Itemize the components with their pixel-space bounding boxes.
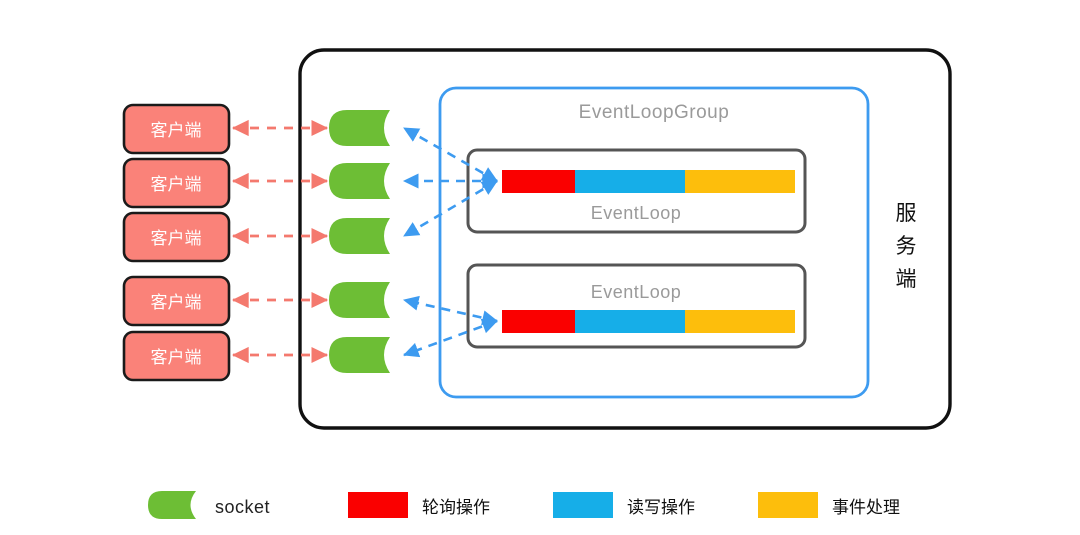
client-4-label: 客户端 — [151, 293, 202, 313]
legend-poll-swatch — [348, 492, 408, 518]
socket-list — [329, 110, 390, 373]
eventloopgroup-box — [440, 88, 868, 397]
server-label: 服 务 端 — [896, 201, 917, 291]
socket-2[interactable] — [329, 163, 390, 199]
client-3-label: 客户端 — [151, 229, 202, 249]
legend-socket-label: socket — [215, 497, 270, 517]
netty-reactor-diagram: 服 务 端 EventLoopGroup EventLoop EventLoop — [0, 0, 1080, 535]
legend-item-poll[interactable]: 轮询操作 — [348, 492, 490, 518]
eventloop-2-segment-eventhandle — [685, 310, 795, 333]
socket-4[interactable] — [329, 282, 390, 318]
eventloop-2-label: EventLoop — [591, 282, 682, 302]
eventloop-1-bar — [502, 170, 795, 193]
eventloop-2-box — [468, 265, 805, 347]
legend-eventhandle-label: 事件处理 — [832, 498, 900, 518]
eventloop-2-segment-readwrite — [575, 310, 685, 333]
client-1[interactable]: 客户端 — [124, 105, 229, 153]
eventloop-1-segment-poll — [502, 170, 575, 193]
diagram-canvas: 服 务 端 EventLoopGroup EventLoop EventLoop — [0, 0, 1080, 535]
eventloop-1-label: EventLoop — [591, 203, 682, 223]
eventloop-2-bar — [502, 310, 795, 333]
eventloopgroup-label: EventLoopGroup — [579, 102, 730, 123]
eventloop-2[interactable]: EventLoop — [468, 265, 805, 347]
server-label-line-2: 务 — [896, 234, 917, 258]
legend-eventhandle-swatch — [758, 492, 818, 518]
client-1-label: 客户端 — [151, 121, 202, 141]
server-label-line-3: 端 — [896, 267, 917, 291]
client-list: 客户端 客户端 客户端 客户端 客户端 — [124, 105, 229, 380]
client-4[interactable]: 客户端 — [124, 277, 229, 325]
client-socket-links — [233, 128, 327, 355]
legend-item-socket[interactable]: socket — [148, 491, 270, 519]
client-2[interactable]: 客户端 — [124, 159, 229, 207]
client-3[interactable]: 客户端 — [124, 213, 229, 261]
client-5-label: 客户端 — [151, 348, 202, 368]
legend-poll-label: 轮询操作 — [422, 498, 490, 518]
socket-1[interactable] — [329, 110, 390, 146]
socket-5[interactable] — [329, 337, 390, 373]
client-2-label: 客户端 — [151, 175, 202, 195]
client-5[interactable]: 客户端 — [124, 332, 229, 380]
legend-readwrite-swatch — [553, 492, 613, 518]
eventloop-1-segment-readwrite — [575, 170, 685, 193]
socket-3[interactable] — [329, 218, 390, 254]
legend-item-eventhandle[interactable]: 事件处理 — [758, 492, 900, 518]
legend-socket-icon — [148, 491, 196, 519]
legend: socket 轮询操作 读写操作 事件处理 — [148, 491, 900, 519]
legend-item-readwrite[interactable]: 读写操作 — [553, 492, 695, 518]
eventloop-2-segment-poll — [502, 310, 575, 333]
server-label-line-1: 服 — [896, 201, 917, 225]
legend-readwrite-label: 读写操作 — [627, 498, 695, 518]
eventloop-1[interactable]: EventLoop — [468, 150, 805, 232]
eventloop-1-segment-eventhandle — [685, 170, 795, 193]
